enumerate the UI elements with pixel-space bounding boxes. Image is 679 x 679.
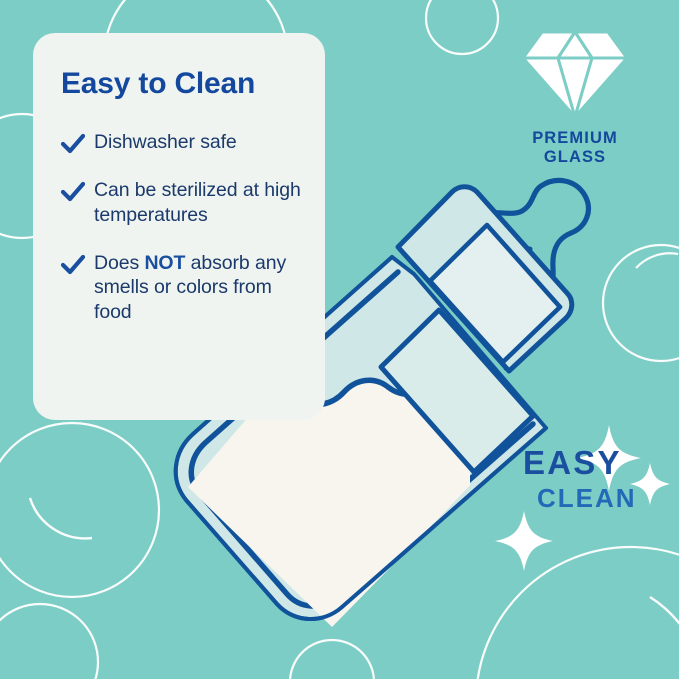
list-item: Can be sterilized at high temperatures (61, 178, 303, 228)
sparkle-icon (495, 511, 553, 571)
easy-clean-wordmark: EASY CLEAN (523, 446, 637, 511)
infographic-canvas: Easy to Clean Dishwasher safe Can be ste… (0, 0, 679, 679)
easy-clean-line1: EASY (523, 446, 637, 479)
page-title: Easy to Clean (61, 67, 303, 100)
list-item: Dishwasher safe (61, 130, 303, 155)
list-item-label-rich: Does NOT absorb any smells or colors fro… (94, 251, 303, 325)
premium-glass-badge: PREMIUM GLASS (505, 28, 645, 168)
check-icon (61, 133, 85, 155)
check-icon (61, 181, 85, 203)
list-item-text-before: Does (94, 252, 144, 274)
check-icon (61, 254, 85, 276)
feature-card: Easy to Clean Dishwasher safe Can be ste… (33, 33, 325, 420)
diamond-icon (520, 28, 630, 120)
easy-clean-line2: CLEAN (537, 485, 637, 511)
list-item-label: Dishwasher safe (94, 130, 237, 155)
list-item: Does NOT absorb any smells or colors fro… (61, 251, 303, 325)
premium-glass-label: PREMIUM GLASS (505, 129, 645, 168)
list-item-emphasis: NOT (144, 252, 185, 274)
list-item-label: Can be sterilized at high temperatures (94, 178, 303, 228)
premium-label-line2: GLASS (505, 148, 645, 167)
premium-label-line1: PREMIUM (505, 129, 645, 148)
